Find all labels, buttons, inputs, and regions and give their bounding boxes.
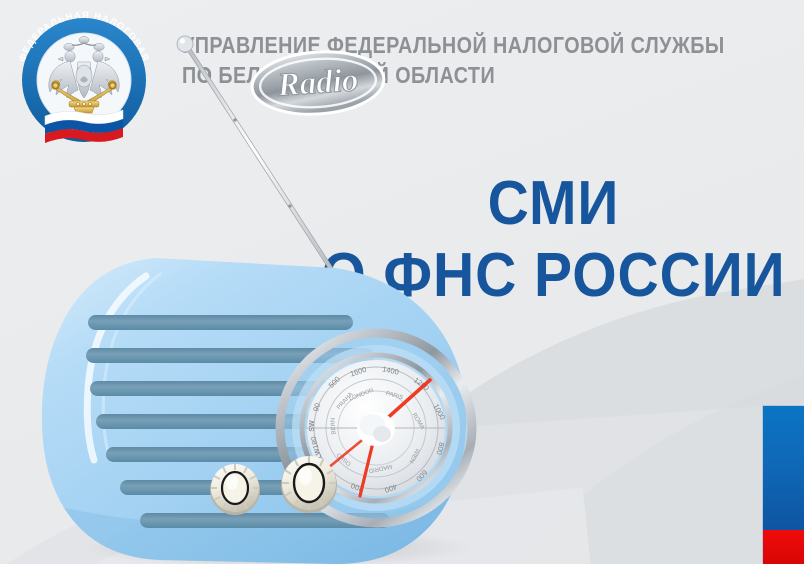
russian-flag-bar (763, 406, 804, 564)
knob-left (210, 464, 260, 515)
svg-text:BERN: BERN (330, 418, 337, 435)
radio-badge: Radio (250, 47, 386, 118)
svg-text:SW: SW (309, 420, 316, 432)
radio-badge-label: Radio (276, 62, 360, 104)
knob-right (281, 456, 337, 513)
flag-red-stripe (763, 530, 804, 564)
flag-blue-stripe (763, 406, 804, 530)
retro-radio-illustration: Radio 1600 1400 1200 1000 (28, 30, 508, 564)
poster-canvas: ФЕДЕРАЛЬНАЯ НАЛОГОВАЯ СЛУЖБА (0, 0, 804, 564)
